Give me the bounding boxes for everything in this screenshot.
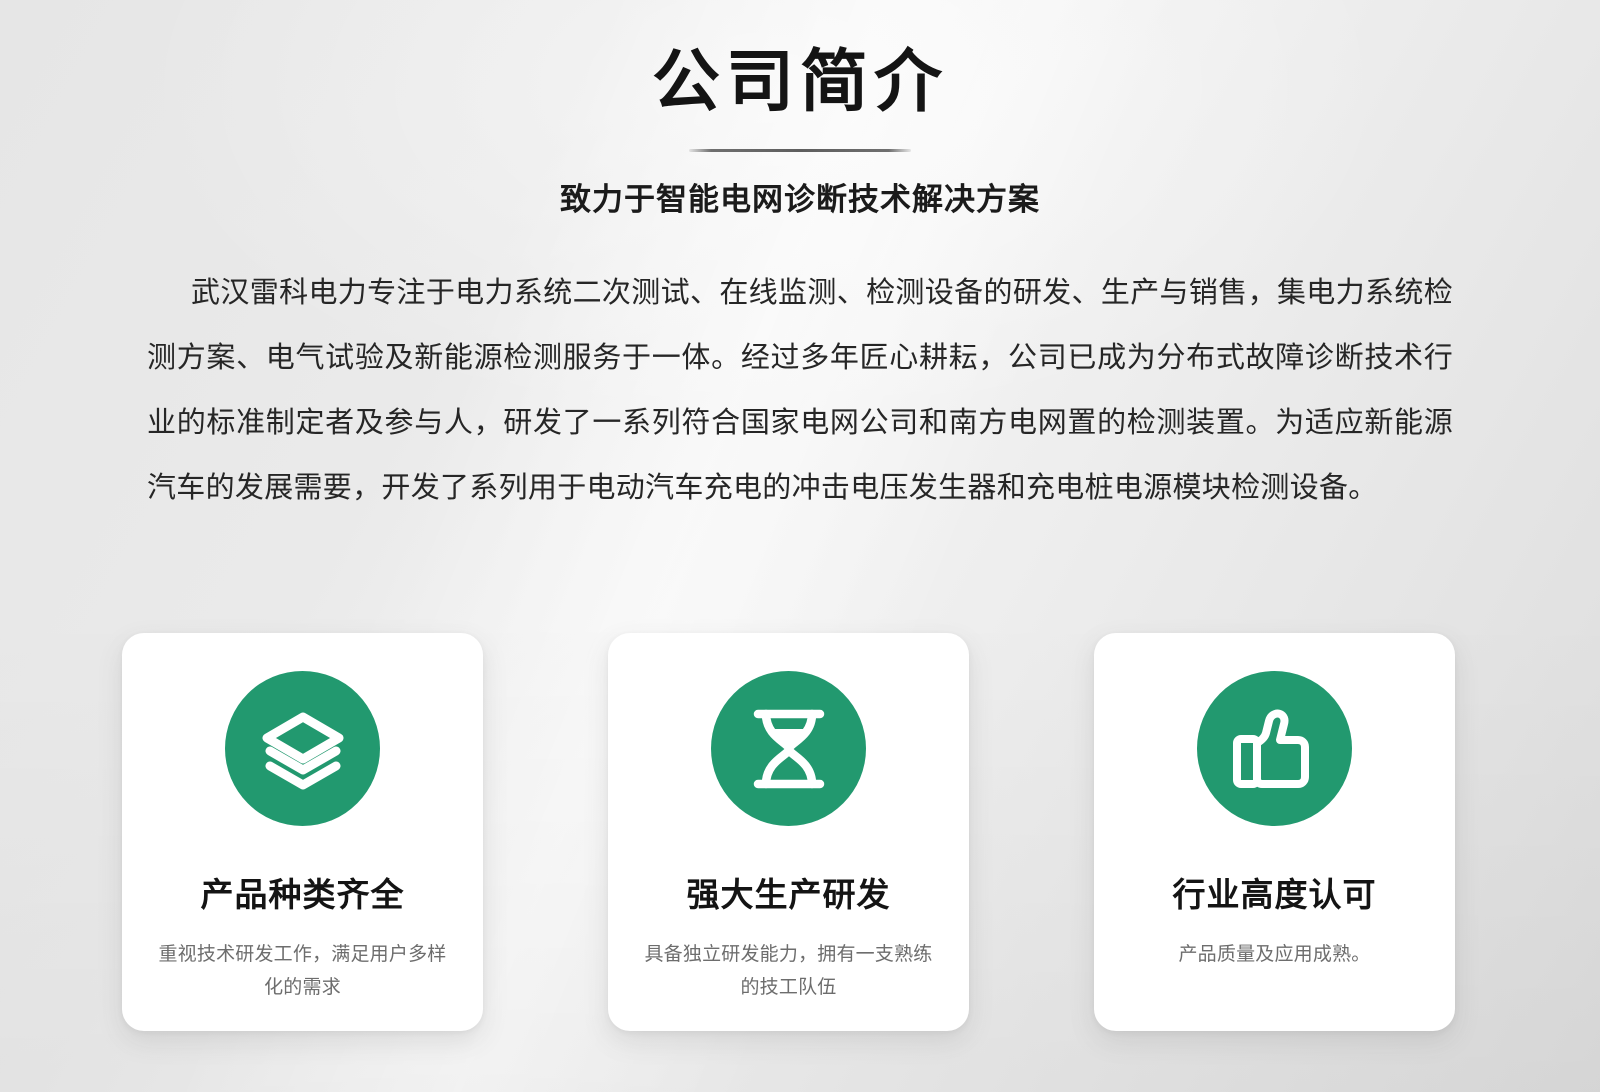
company-intro-text: 武汉雷科电力专注于电力系统二次测试、在线监测、检测设备的研发、生产与销售，集电力… <box>147 277 1453 504</box>
layers-icon <box>225 671 380 826</box>
feature-card-description: 产品质量及应用成熟。 <box>1125 938 1425 971</box>
feature-card-description: 具备独立研发能力，拥有一支熟练的技工队伍 <box>639 938 939 1004</box>
feature-card-title: 强大生产研发 <box>687 868 891 916</box>
feature-card-description: 重视技术研发工作，满足用户多样化的需求 <box>153 938 453 1004</box>
feature-card-products[interactable]: 产品种类齐全 重视技术研发工作，满足用户多样化的需求 <box>122 633 483 1031</box>
feature-card-title: 产品种类齐全 <box>201 868 405 916</box>
company-intro-paragraph: 武汉雷科电力专注于电力系统二次测试、在线监测、检测设备的研发、生产与销售，集电力… <box>147 261 1453 521</box>
feature-card-rnd[interactable]: 强大生产研发 具备独立研发能力，拥有一支熟练的技工队伍 <box>608 633 969 1031</box>
title-divider <box>689 149 911 152</box>
company-profile-page: 公司简介 致力于智能电网诊断技术解决方案 武汉雷科电力专注于电力系统二次测试、在… <box>0 0 1600 1092</box>
hourglass-icon <box>711 671 866 826</box>
page-subtitle: 致力于智能电网诊断技术解决方案 <box>0 174 1600 219</box>
feature-card-recognition[interactable]: 行业高度认可 产品质量及应用成熟。 <box>1094 633 1455 1031</box>
feature-card-title: 行业高度认可 <box>1173 868 1377 916</box>
feature-card-list: 产品种类齐全 重视技术研发工作，满足用户多样化的需求 强大生产研发 具备独立研发… <box>122 633 1455 1031</box>
page-title: 公司简介 <box>0 40 1600 125</box>
page-header: 公司简介 致力于智能电网诊断技术解决方案 <box>0 0 1600 219</box>
thumbs-up-icon <box>1197 671 1352 826</box>
